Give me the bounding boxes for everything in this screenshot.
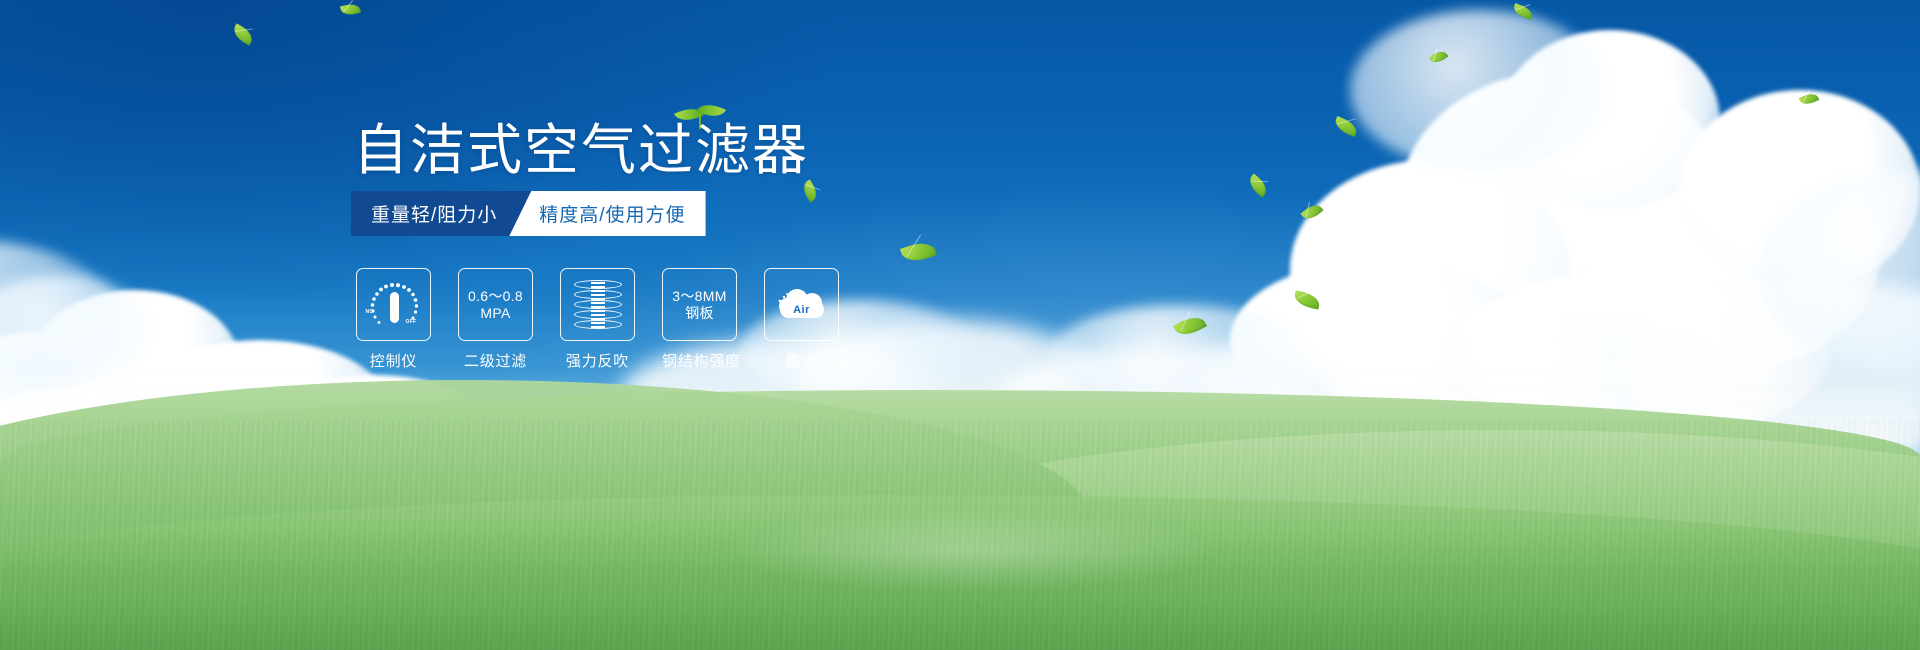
gauge-no-label: NO	[366, 309, 374, 315]
feature-label: 强力反吹	[560, 350, 635, 371]
feature-label: 钢结构强度	[662, 350, 737, 371]
banner-stage: 自洁式空气过滤器 重量轻/阻力小 精度高/使用方便	[0, 0, 1920, 650]
feature-box: 3～8MM 钢板	[662, 268, 737, 341]
feature-box-text-line2: 钢板	[685, 305, 714, 322]
feature-item-pressure: 0.6～0.8 MPA 二级过滤	[458, 268, 533, 371]
feature-label: 二级过滤	[458, 350, 533, 371]
feature-item-back-blow: 强力反吹	[560, 268, 635, 371]
gauge-off-label: OFF	[406, 319, 417, 325]
subtitle-left-pill: 重量轻/阻力小	[351, 191, 531, 236]
feature-box: Air	[764, 268, 839, 341]
feature-label: 控制仪	[356, 350, 431, 371]
subtitle-bar: 重量轻/阻力小 精度高/使用方便	[351, 191, 706, 236]
feature-box-text-line2: MPA	[480, 305, 510, 322]
page-title: 自洁式空气过滤器	[353, 118, 809, 182]
feature-list: NO OFF 控制仪 0.6～0.8 MPA 二级过滤	[356, 268, 839, 371]
feature-item-dust-collection: Air 集尘	[764, 268, 839, 371]
feature-label: 集尘	[764, 350, 839, 371]
feature-box-text-line1: 0.6～0.8	[468, 288, 523, 305]
feature-box	[560, 268, 635, 341]
air-label: Air	[776, 304, 828, 316]
air-cloud-icon: Air	[776, 283, 828, 327]
feature-box: NO OFF	[356, 268, 431, 341]
feature-box: 0.6～0.8 MPA	[458, 268, 533, 341]
feature-item-steel: 3～8MM 钢板 钢结构强度	[662, 268, 737, 371]
subtitle-right-pill: 精度高/使用方便	[509, 191, 705, 236]
feature-item-control-gauge: NO OFF 控制仪	[356, 268, 431, 371]
filter-stack-icon	[574, 280, 622, 330]
gauge-icon: NO OFF	[366, 279, 422, 331]
feature-box-text-line1: 3～8MM	[672, 288, 726, 305]
